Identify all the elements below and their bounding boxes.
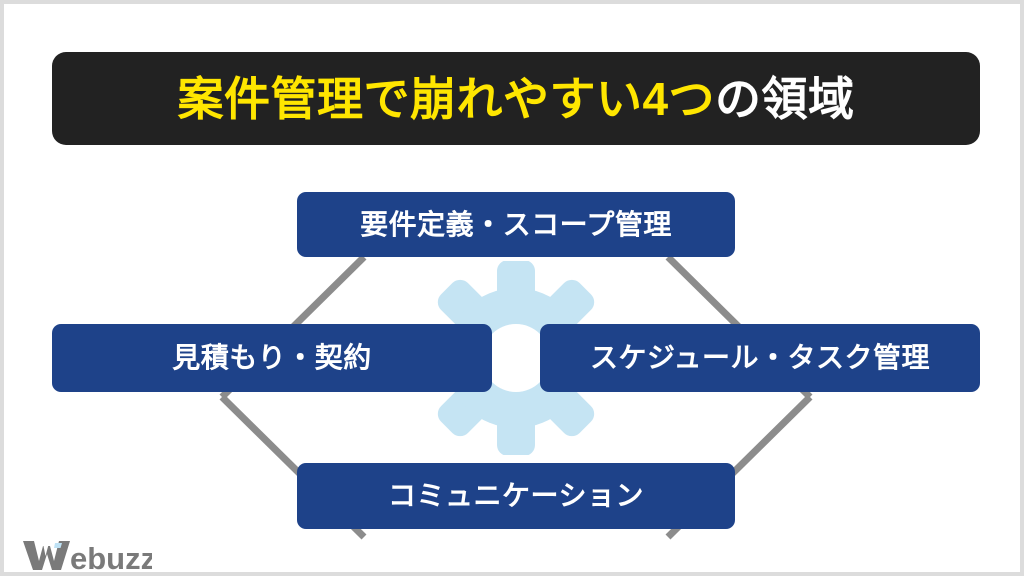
pillar-communication-label: コミュニケーション — [388, 482, 644, 510]
pillar-requirements-label: 要件定義・スコープ管理 — [360, 211, 672, 239]
pillar-estimate-contract[interactable]: 見積もり・契約 — [52, 324, 492, 392]
pillar-schedule-task[interactable]: スケジュール・タスク管理 — [540, 324, 980, 392]
pillar-requirements[interactable]: 要件定義・スコープ管理 — [297, 192, 735, 257]
pillar-schedule-task-label: スケジュール・タスク管理 — [590, 344, 930, 372]
webuzz-logo-mark: ebuzz — [22, 537, 152, 573]
pillar-communication[interactable]: コミュニケーション — [297, 463, 735, 529]
webuzz-logo-text: ebuzz — [70, 541, 152, 573]
slide-canvas: 案件管理で崩れやすい4つの領域 — [0, 0, 1024, 576]
page-title: 案件管理で崩れやすい4つの領域 — [177, 76, 854, 122]
webuzz-logo: ebuzz — [22, 537, 152, 573]
title-banner: 案件管理で崩れやすい4つの領域 — [52, 52, 980, 145]
page-title-highlight: 案件管理で崩れやすい4つ — [177, 73, 715, 125]
page-title-plain: の領域 — [715, 73, 855, 125]
pillar-estimate-contract-label: 見積もり・契約 — [172, 344, 372, 372]
diagram-stage: 要件定義・スコープ管理 見積もり・契約 スケジュール・タスク管理 コミュニケーシ… — [4, 145, 1020, 572]
